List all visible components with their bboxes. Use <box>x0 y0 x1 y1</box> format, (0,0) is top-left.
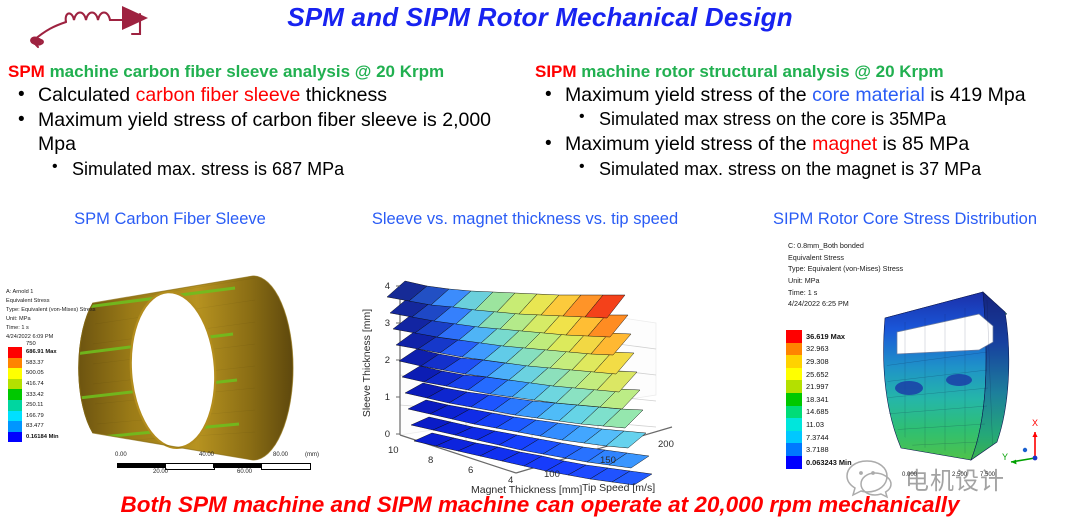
watermark-text: 电机设计 <box>905 461 1005 496</box>
legend-label: 32.963 <box>806 344 829 353</box>
legend-swatch <box>786 355 802 368</box>
list-item: Maximum yield stress of the core materia… <box>535 84 1080 132</box>
surface-plot-3d: 4 3 2 1 0 10 8 6 4 100 150 200 Sleeve Th… <box>356 245 711 495</box>
legend-scale-right: 36.619 Max 32.963 29.308 25.652 21.997 1… <box>786 330 852 469</box>
bullet-seg: is 419 Mpa <box>925 84 1026 106</box>
legend-scale-left: 686.91 Max 583.37 500.05 416.74 333.42 2… <box>8 347 59 442</box>
legend-row: 7.3744 <box>786 431 852 444</box>
legend-row: 686.91 Max <box>8 347 59 358</box>
ansys-unit: Unit: MPa <box>788 275 903 287</box>
sipm-rotor-3d-figure: X Y <box>875 270 1080 475</box>
axis-tick: 2 <box>385 355 390 366</box>
axis-tick: 3 <box>385 318 390 329</box>
legend-swatch <box>8 421 22 432</box>
legend-swatch <box>786 443 802 456</box>
y-axis-label: Sleeve Thickness [mm] <box>361 309 373 417</box>
scalebar-segment <box>165 463 215 470</box>
scalebar-tick: 40.00 <box>199 452 214 458</box>
scalebar-segment <box>261 463 311 470</box>
legend-left: 750 686.91 Max 583.37 500.05 416.74 333.… <box>8 341 59 442</box>
ansys-info-left: A: Arnold 1 Equivalent Stress Type: Equi… <box>6 288 96 342</box>
legend-swatch <box>786 431 802 444</box>
bullet-seg: Maximum yield stress of the <box>565 84 812 106</box>
legend-label: 166.79 <box>26 413 44 419</box>
scalebar-segment <box>213 463 261 468</box>
axis-tick: 4 <box>385 281 390 292</box>
scale-bar-left: 0.00 40.00 80.00 (mm) 20.00 60.00 <box>115 452 310 478</box>
legend-row: 25.652 <box>786 368 852 381</box>
legend-label: 583.37 <box>26 360 44 366</box>
ansys-info-right: C: 0.8mm_Both bonded Equivalent Stress T… <box>788 240 903 310</box>
legend-row: 21.997 <box>786 380 852 393</box>
legend-right: 36.619 Max 32.963 29.308 25.652 21.997 1… <box>786 330 852 469</box>
left-sub-list: Simulated max. stress is 687 MPa <box>38 159 533 181</box>
bullet-seg: thickness <box>300 84 387 106</box>
legend-swatch <box>786 393 802 406</box>
legend-row: 36.619 Max <box>786 330 852 343</box>
scalebar-segment <box>117 463 165 468</box>
bullet-seg: is 85 MPa <box>877 133 969 155</box>
legend-swatch <box>8 358 22 369</box>
legend-label: 25.652 <box>806 370 829 379</box>
legend-row: 83.477 <box>8 421 59 432</box>
legend-swatch <box>786 380 802 393</box>
legend-label: 0.16184 Min <box>26 434 59 440</box>
legend-swatch <box>786 456 802 469</box>
right-sub-list-2: Simulated max. stress on the magnet is 3… <box>565 159 1080 181</box>
scalebar-unit: (mm) <box>305 452 319 458</box>
legend-row: 14.685 <box>786 406 852 419</box>
ansys-title: A: Arnold 1 <box>6 288 96 297</box>
caption-sipm-core-stress: SIPM Rotor Core Stress Distribution <box>730 210 1080 229</box>
list-item: Simulated max stress on the core is 35MP… <box>565 109 1080 131</box>
legend-label: 500.05 <box>26 370 44 376</box>
legend-label: 250.11 <box>26 402 43 408</box>
svg-text:X: X <box>1032 418 1038 428</box>
axis-tick: 100 <box>544 469 560 480</box>
legend-row: 416.74 <box>8 379 59 390</box>
legend-row: 166.79 <box>8 411 59 422</box>
legend-label: 686.91 Max <box>26 349 57 355</box>
legend-label: 7.3744 <box>806 433 829 442</box>
bullet-seg: Maximum yield stress of carbon fiber sle… <box>38 109 491 155</box>
legend-label: 333.42 <box>26 392 44 398</box>
legend-swatch <box>8 379 22 390</box>
legend-label: 83.477 <box>26 423 44 429</box>
left-column-heading: SPM machine carbon fiber sleeve analysis… <box>8 62 533 82</box>
legend-label: 3.7188 <box>806 445 829 454</box>
axis-tick: 200 <box>658 439 674 450</box>
page-title: SPM and SIPM Rotor Mechanical Design <box>0 2 1080 33</box>
right-bullet-list: Maximum yield stress of the core materia… <box>535 84 1080 181</box>
bullet-seg-highlight: carbon fiber sleeve <box>136 84 301 106</box>
legend-label: 29.308 <box>806 357 829 366</box>
bullet-seg-highlight: core material <box>812 84 925 106</box>
caption-sleeve-vs-magnet: Sleeve vs. magnet thickness vs. tip spee… <box>330 210 720 229</box>
bullet-seg-highlight: magnet <box>812 133 877 155</box>
right-heading-part2: machine rotor structural analysis @ 20 K… <box>577 62 944 81</box>
bottom-banner: Both SPM machine and SIPM machine can op… <box>0 492 1080 518</box>
ansys-type-line: Type: Equivalent (von-Mises) Stress <box>788 263 903 275</box>
legend-swatch <box>786 330 802 343</box>
ansys-time: Time: 1 s <box>788 287 903 299</box>
scalebar-tick: 80.00 <box>273 452 288 458</box>
axis-tick: 150 <box>600 455 616 466</box>
list-item: Maximum yield stress of the magnet is 85… <box>535 133 1080 181</box>
caption-spm-sleeve: SPM Carbon Fiber Sleeve <box>20 210 320 229</box>
legend-row: 0.16184 Min <box>8 432 59 443</box>
ansys-timestamp: 4/24/2022 6:25 PM <box>788 298 903 310</box>
legend-swatch <box>8 411 22 422</box>
legend-label: 36.619 Max <box>806 332 845 341</box>
axis-tick: 0 <box>385 429 390 440</box>
legend-row: 250.11 <box>8 400 59 411</box>
legend-row: 3.7188 <box>786 443 852 456</box>
right-sub-list-1: Simulated max stress on the core is 35MP… <box>565 109 1080 131</box>
axis-tick: 8 <box>428 455 433 466</box>
legend-swatch <box>786 368 802 381</box>
legend-swatch <box>786 343 802 356</box>
scalebar-tick: 60.00 <box>237 469 252 475</box>
axis-tick: 10 <box>388 445 399 456</box>
legend-row: 32.963 <box>786 343 852 356</box>
legend-label: 416.74 <box>26 381 44 387</box>
list-item: Maximum yield stress of carbon fiber sle… <box>8 109 533 181</box>
list-item: Simulated max. stress on the magnet is 3… <box>565 159 1080 181</box>
bullet-seg: Calculated <box>38 84 136 106</box>
legend-label: 14.685 <box>806 407 829 416</box>
legend-row: 333.42 <box>8 389 59 400</box>
axis-tick: 1 <box>385 392 390 403</box>
legend-swatch <box>8 389 22 400</box>
legend-swatch <box>8 347 22 358</box>
ansys-unit: Unit: MPa <box>6 315 96 324</box>
legend-row: 18.341 <box>786 393 852 406</box>
legend-swatch <box>8 400 22 411</box>
axis-tick: 6 <box>468 465 473 476</box>
left-heading-part2: machine carbon fiber sleeve analysis @ 2… <box>45 62 444 81</box>
left-heading-part1: SPM <box>8 62 45 81</box>
legend-label: 18.341 <box>806 395 829 404</box>
scalebar-tick: 0.00 <box>115 452 127 458</box>
legend-swatch <box>8 368 22 379</box>
right-column: SIPM machine rotor structural analysis @… <box>535 62 1080 181</box>
legend-row: 11.03 <box>786 418 852 431</box>
spm-sleeve-3d-figure <box>55 248 355 483</box>
right-heading-part1: SIPM <box>535 62 577 81</box>
list-item: Calculated carbon fiber sleeve thickness <box>8 84 533 108</box>
ansys-type-line: Type: Equivalent (von-Mises) Stress <box>6 306 96 315</box>
legend-swatch <box>786 418 802 431</box>
legend-label: 21.997 <box>806 382 829 391</box>
ansys-result-type: Equivalent Stress <box>788 252 903 264</box>
legend-row: 29.308 <box>786 355 852 368</box>
left-column: SPM machine carbon fiber sleeve analysis… <box>8 62 533 181</box>
bullet-seg: Maximum yield stress of the <box>565 133 812 155</box>
legend-row: 583.37 <box>8 358 59 369</box>
list-item: Simulated max. stress is 687 MPa <box>38 159 533 181</box>
right-column-heading: SIPM machine rotor structural analysis @… <box>535 62 1080 82</box>
ansys-result-type: Equivalent Stress <box>6 297 96 306</box>
legend-swatch <box>786 406 802 419</box>
legend-label: 11.03 <box>806 420 824 429</box>
scalebar-tick: 20.00 <box>153 469 168 475</box>
ansys-title: C: 0.8mm_Both bonded <box>788 240 903 252</box>
left-bullet-list: Calculated carbon fiber sleeve thickness… <box>8 84 533 181</box>
ansys-time: Time: 1 s <box>6 324 96 333</box>
legend-row: 0.063243 Min <box>786 456 852 469</box>
legend-swatch <box>8 432 22 443</box>
legend-row: 500.05 <box>8 368 59 379</box>
